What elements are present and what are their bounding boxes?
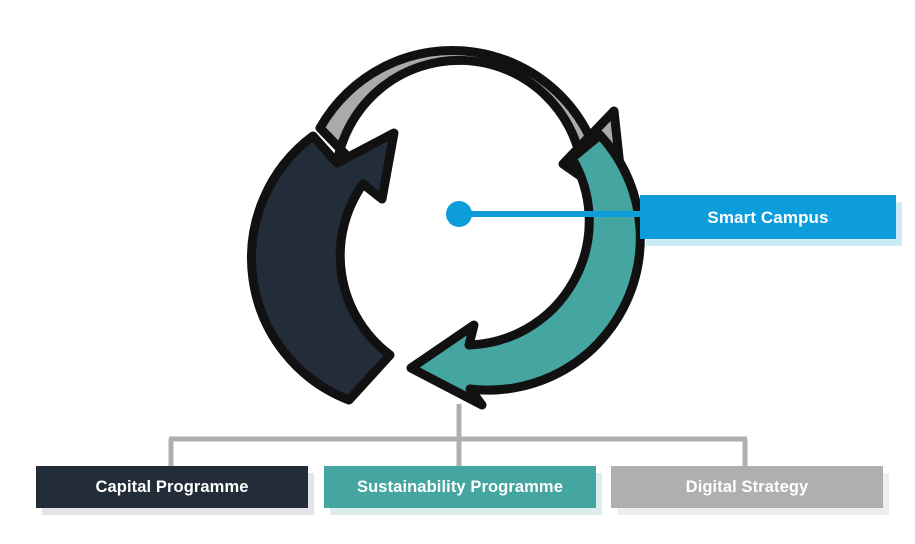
cycle-ring <box>252 50 641 405</box>
sustainability-programme-label-text: Sustainability Programme <box>357 479 563 496</box>
smart-campus-label-text: Smart Campus <box>707 209 828 226</box>
child-bracket-connector <box>169 404 747 468</box>
smart-campus-label-box[interactable]: Smart Campus <box>640 195 896 239</box>
sustainability-programme-label-box[interactable]: Sustainability Programme <box>324 466 596 508</box>
digital-strategy-label-text: Digital Strategy <box>686 479 809 496</box>
dark-arrow-segment <box>252 133 394 400</box>
capital-programme-label-box[interactable]: Capital Programme <box>36 466 308 508</box>
cycle-diagram-graphic <box>0 0 915 544</box>
grey-arrow-segment <box>320 50 622 185</box>
diagram-canvas: Smart Campus Capital Programme Sustainab… <box>0 0 915 544</box>
capital-programme-label-text: Capital Programme <box>96 479 249 496</box>
hub-dot-icon <box>446 201 472 227</box>
teal-arrow-segment <box>411 135 640 405</box>
digital-strategy-label-box[interactable]: Digital Strategy <box>611 466 883 508</box>
